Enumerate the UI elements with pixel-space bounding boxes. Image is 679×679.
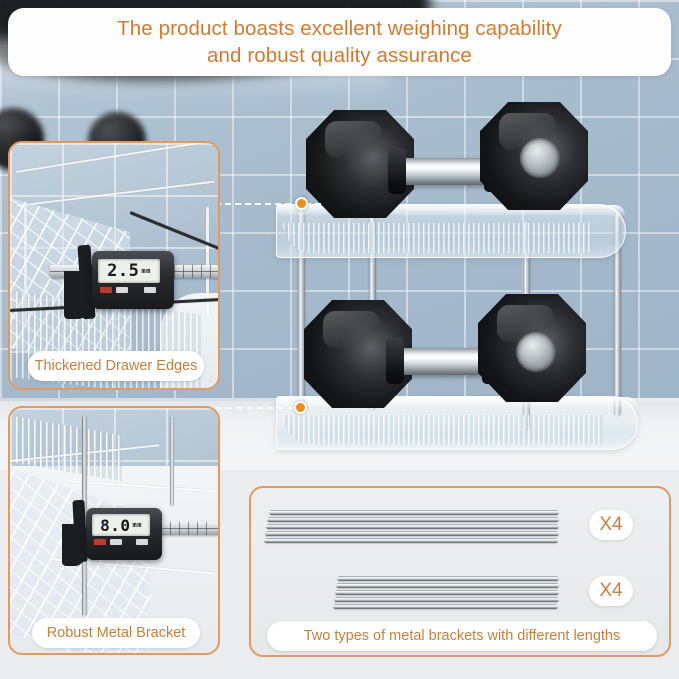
dumbbell-upper-collar-left [388,148,406,194]
inset2-caliper-power-button[interactable] [136,539,148,545]
inset1-caption-pill: Thickened Drawer Edges [28,351,204,381]
short-bracket-rod [334,597,559,602]
inset2-caliper-jaw-moving [62,524,84,566]
inset2-caliper-reading: 8.0 [100,516,130,535]
inset2-caliper-zero-button[interactable] [94,539,106,545]
inset2-caliper-display: 8.0 mm [92,514,150,536]
inset-robust-metal-bracket: 8.0 mm Robust Metal Bracket [8,406,220,655]
inset2-caption-pill: Robust Metal Bracket [32,618,200,648]
long-bracket-rod [264,538,558,543]
long-bracket-quantity-text: X4 [599,514,622,536]
long-bracket-rod [267,517,559,522]
inset-thickened-drawer-edges: 2.5 mm Thickened Drawer Edges [8,141,220,390]
short-bracket-bundle [337,576,559,608]
leader-line-lower [205,407,305,409]
short-bracket-rod [333,604,558,609]
short-bracket-rod [336,583,559,588]
short-bracket-rod [335,590,559,595]
short-bracket-quantity-text: X4 [599,580,622,602]
short-bracket-quantity-badge: X4 [589,576,633,606]
inset2-caliper-unit: mm [132,521,141,529]
long-bracket-quantity-badge: X4 [589,510,633,540]
long-bracket-rod [265,531,559,536]
headline-text: The product boasts excellent weighing ca… [117,15,562,69]
inset1-caliper-jaw-moving [64,271,88,319]
dumbbell-lower-collar-left [386,338,404,384]
leader-dot-lower [294,401,307,414]
headline-banner: The product boasts excellent weighing ca… [8,8,671,76]
inset2-caliper-mode-button[interactable] [110,539,122,545]
product-marketing-image: The product boasts excellent weighing ca… [0,0,679,679]
inset1-caption-text: Thickened Drawer Edges [35,358,198,374]
inset1-caliper-mode-button[interactable] [116,287,128,293]
headline-line-1: The product boasts excellent weighing ca… [117,17,562,40]
inset1-caliper-unit: mm [141,267,150,275]
inset1-caliper-power-button[interactable] [144,287,156,293]
lower-tray-ribs [283,415,603,445]
short-bracket-rod [337,576,559,581]
dumbbell-lower-end-cap [516,332,556,372]
inset2-vertical-post-right [170,416,174,506]
headline-line-2: and robust quality assurance [207,44,472,67]
long-bracket-rod [266,524,559,529]
product-hero [276,96,666,456]
long-bracket-bundle [269,510,559,542]
inset-metal-brackets: X4 X4 Two types of metal brackets with d… [249,486,671,657]
inset2-caption-text: Robust Metal Bracket [47,625,186,641]
brackets-caption-text: Two types of metal brackets with differe… [304,628,620,644]
leader-dot-upper [295,197,308,210]
dumbbell-upper-end-cap [520,138,560,178]
long-bracket-rod [269,510,559,515]
inset1-caliper-reading: 2.5 [107,261,139,281]
brackets-caption-pill: Two types of metal brackets with differe… [267,621,657,651]
upper-tray-ribs [283,223,591,253]
inset1-caliper-display: 2.5 mm [98,259,160,283]
inset1-caliper-zero-button[interactable] [100,287,112,293]
